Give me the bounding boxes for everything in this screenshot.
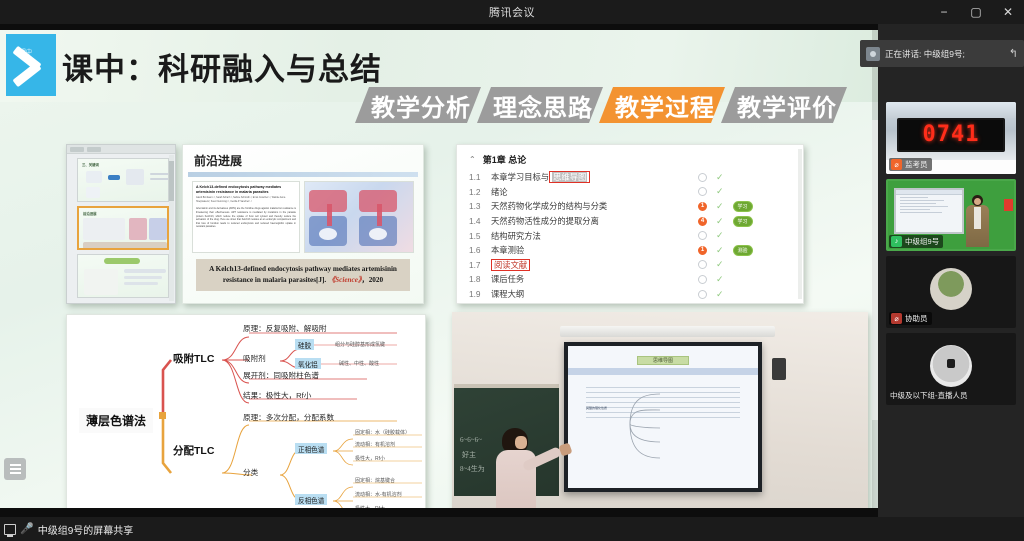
chapter-row-number: 1.8 xyxy=(469,274,491,284)
chapter-row-number: 1.1 xyxy=(469,172,491,182)
course-logo-icon: 课中 xyxy=(6,34,56,96)
chapter-empty-dot xyxy=(698,275,707,284)
bottom-status-bar: 🎤 中级组9号的屏幕共享 xyxy=(0,517,1024,541)
tab-3[interactable]: 教学评价 xyxy=(721,87,847,123)
chapter-check-icon: ✓ xyxy=(716,187,724,196)
chapter-scrollbar[interactable] xyxy=(798,149,802,299)
mindmap-root-node: 薄层色谱法 xyxy=(79,408,153,433)
clock-digits: 0741 xyxy=(923,124,980,146)
participant-label-invigilator: ⌀ 监考员 xyxy=(889,158,932,171)
citation-year: ，2020 xyxy=(362,276,384,284)
mm-note-alumina: 碱性、中性、酸性 xyxy=(339,360,379,367)
paper-screenshot: A Kelch13-defined endocytosis pathway me… xyxy=(192,181,300,253)
ppt-thumbnail-panel[interactable]: 三、关键词 前沿进展 xyxy=(66,144,176,304)
chapter-row-title: 本章测验 xyxy=(491,244,698,256)
tab-label: 教学评价 xyxy=(737,88,837,123)
chapter-row-number: 1.4 xyxy=(469,216,491,226)
participant-name-broadcaster: 中级及以下组-直播人员 xyxy=(890,390,968,401)
paper-citation: A Kelch13-defined endocytosis pathway me… xyxy=(196,259,410,291)
mm-ads-node-3: 结果：极性大，Rf小 xyxy=(243,390,311,401)
participant-name-invigilator: 监考员 xyxy=(905,159,928,170)
paper-figure xyxy=(304,181,414,253)
chapter-row-title: 课程大纲 xyxy=(491,288,698,300)
paper-heading: A Kelch13-defined endocytosis pathway me… xyxy=(196,185,296,195)
chapter-status-pill: 学习 xyxy=(733,201,753,212)
speaker-avatar-icon xyxy=(866,47,880,61)
ppt-toolbar xyxy=(67,145,175,154)
speaking-text: 正在讲话: 中级组9号; xyxy=(885,48,1004,60)
share-status-label: 中级组9号的屏幕共享 xyxy=(38,522,134,537)
ppt-thumb-2-title: 前沿进展 xyxy=(83,211,97,216)
presenter-slide-preview xyxy=(894,188,964,234)
chapter-check-icon: ✓ xyxy=(716,173,724,182)
screen-share-icon xyxy=(4,524,16,535)
chapter-row[interactable]: 1.2绪论✓ xyxy=(469,185,793,200)
chapter-check-icon: ✓ xyxy=(716,217,724,226)
chapter-row[interactable]: 1.7阅读文献✓ xyxy=(469,258,793,273)
mm-tag-reverse-phase: 反相色谱 xyxy=(295,494,327,505)
chevron-up-icon[interactable]: ⌃ xyxy=(469,155,476,164)
collapse-arrow-icon[interactable]: ↰ xyxy=(1009,47,1018,60)
mindmap-slide: 薄层色谱法 吸附TLC 分配TLC 原理：反复吸附、解吸附 吸附剂 硅胶 组分与… xyxy=(66,314,426,517)
chapter-row-indicators: ✓ xyxy=(698,231,793,240)
mindmap-branch-adsorption: 吸附TLC xyxy=(173,351,214,366)
logo-caption: 课中 xyxy=(20,47,32,56)
paper-abstract-filler: Artemisinin and its derivatives (ARTs) a… xyxy=(196,207,296,229)
lesson-title: 课中：科研融入与总结 xyxy=(62,44,382,89)
chapter-row-number: 1.2 xyxy=(469,187,491,197)
chapter-row-title: 结构研究方法 xyxy=(491,230,698,242)
chapter-row-title: 绪论 xyxy=(491,186,698,198)
presenter-accent-block xyxy=(1004,199,1013,211)
projection-mindmap-curves xyxy=(568,380,766,470)
mm-np-note-0: 固定相：水（硅胶载体） xyxy=(355,429,410,436)
tab-1[interactable]: 理念思路 xyxy=(477,87,603,123)
chapter-status-pill: 学习 xyxy=(733,216,753,227)
participant-label-assistant: ⌀ 协助员 xyxy=(889,312,932,325)
chapter-empty-dot xyxy=(698,290,707,299)
menu-hamburger-icon[interactable] xyxy=(4,458,26,480)
projection-screen-title: 思维导图 xyxy=(637,356,689,365)
chapter-row-indicators: 4✓学习 xyxy=(698,216,793,227)
lesson-banner: 课中 课中：科研融入与总结 教学分析理念思路教学过程教学评价 xyxy=(0,30,878,102)
chapter-row-highlight: 阅读文献 xyxy=(491,259,530,271)
chapter-row[interactable]: 1.1本章学习目标与思维导图✓ xyxy=(469,170,793,185)
citation-journal: 《Science》 xyxy=(328,276,362,284)
ppt-panel-scrollbar[interactable] xyxy=(169,155,174,301)
participant-video-list[interactable]: 0741 ⌀ 监考员 ♪ xyxy=(886,102,1016,405)
tab-0[interactable]: 教学分析 xyxy=(355,87,481,123)
ppt-thumbnail-list[interactable]: 三、关键词 前沿进展 xyxy=(67,154,175,302)
chapter-row-indicators: 1✓测验 xyxy=(698,245,793,256)
chapter-count-badge: 1 xyxy=(698,202,707,211)
chapter-row-indicators: ✓ xyxy=(698,173,793,182)
tab-label: 教学过程 xyxy=(615,88,715,123)
participant-card-broadcaster[interactable]: 中级及以下组-直播人员 xyxy=(886,333,1016,405)
mm-par-node-1: 分类 xyxy=(243,467,258,478)
chapter-row-list[interactable]: 1.1本章学习目标与思维导图✓1.2绪论✓1.3天然药物化学成分的结构与分类1✓… xyxy=(469,170,793,301)
chapter-check-icon: ✓ xyxy=(716,202,724,211)
chapter-row-title: 天然药物活性成分的提取分离 xyxy=(491,215,698,227)
participant-card-assistant[interactable]: ⌀ 协助员 xyxy=(886,256,1016,328)
mm-ads-node-0: 原理：反复吸附、解吸附 xyxy=(243,323,327,334)
participant-name-presenter: 中级组9号 xyxy=(905,236,939,247)
mm-rp-note-0: 固定相：烷基键合 xyxy=(355,477,395,484)
chapter-row-indicators: ✓ xyxy=(698,275,793,284)
chapter-row-title: 本章学习目标与思维导图 xyxy=(491,171,698,183)
ppt-thumb-3[interactable] xyxy=(77,254,169,298)
close-icon[interactable]: ✕ xyxy=(992,0,1024,24)
participant-card-presenter[interactable]: ♪ 中级组9号 xyxy=(886,179,1016,251)
paper-authors: Jakob Birnbaum¹·², Sarah Scharf¹·², Sabi… xyxy=(196,197,296,204)
participant-label-presenter: ♪ 中级组9号 xyxy=(889,235,943,248)
ppt-thumb-1[interactable]: 三、关键词 xyxy=(77,158,169,202)
chapter-row-title: 阅读文献 xyxy=(491,259,698,271)
chapter-row[interactable]: 1.4天然药物活性成分的提取分离4✓学习 xyxy=(469,214,793,229)
frontier-progress-slide: 前沿进展 A Kelch13-defined endocytosis pathw… xyxy=(182,144,424,304)
projection-screen: 思维导图 其醌的理化性质 xyxy=(564,342,762,492)
chapter-row-number: 1.3 xyxy=(469,201,491,211)
chapter-check-icon: ✓ xyxy=(716,246,724,255)
window-title-bar: 腾讯会议 − ▢ ✕ xyxy=(0,0,1024,24)
chapter-check-icon: ✓ xyxy=(716,275,724,284)
chapter-row-title: 天然药物化学成分的结构与分类 xyxy=(491,200,698,212)
course-chapter-panel[interactable]: ⌃ 第1章 总论 1.1本章学习目标与思维导图✓1.2绪论✓1.3天然药物化学成… xyxy=(456,144,804,304)
chapter-check-icon: ✓ xyxy=(716,260,724,269)
participant-rail: 正在讲话: 中级组9号; ↰ 0741 ⌀ 监考员 xyxy=(878,24,1024,517)
chapter-header[interactable]: ⌃ 第1章 总论 xyxy=(469,153,793,166)
classroom-photo: 6~6~6~ 好主 8~4生为 思维导图 其醌的理化性质 xyxy=(452,312,868,517)
chapter-row-number: 1.7 xyxy=(469,260,491,270)
chapter-check-icon: ✓ xyxy=(716,231,724,240)
chapter-row[interactable]: 1.6本章测验1✓测验 xyxy=(469,243,793,258)
shared-slide-canvas: 课中 课中：科研融入与总结 教学分析理念思路教学过程教学评价 三、关键词 xyxy=(0,24,878,517)
chapter-row[interactable]: 1.3天然药物化学成分的结构与分类1✓学习 xyxy=(469,199,793,214)
participant-card-invigilator[interactable]: 0741 ⌀ 监考员 xyxy=(886,102,1016,174)
mm-ads-node-2: 展开剂：同吸附柱色谱 xyxy=(243,370,319,381)
projector-roller xyxy=(560,326,775,337)
mm-tag-normal-phase: 正相色谱 xyxy=(295,443,327,454)
chapter-status-pill: 测验 xyxy=(733,245,753,256)
chapter-row[interactable]: 1.8课后任务✓ xyxy=(469,272,793,287)
mm-tag-alumina: 氧化铝 xyxy=(295,358,321,369)
window-title: 腾讯会议 xyxy=(489,4,535,20)
mic-active-icon: ♪ xyxy=(891,236,902,247)
mm-tag-silica: 硅胶 xyxy=(295,339,314,350)
chapter-empty-dot xyxy=(698,173,707,182)
chapter-row-number: 1.5 xyxy=(469,231,491,241)
wall-speaker-icon xyxy=(772,358,786,380)
chapter-row-title: 课后任务 xyxy=(491,273,698,285)
minimize-icon[interactable]: − xyxy=(928,0,960,24)
chapter-count-badge: 1 xyxy=(698,246,707,255)
teacher-figure xyxy=(496,428,538,517)
tab-2[interactable]: 教学过程 xyxy=(599,87,725,123)
chapter-row-indicators: 1✓学习 xyxy=(698,201,793,212)
mic-muted-icon: ⌀ xyxy=(891,313,902,324)
chapter-row-indicators: ✓ xyxy=(698,187,793,196)
chapter-empty-dot xyxy=(698,260,707,269)
chapter-row[interactable]: 1.9课程大纲✓ xyxy=(469,287,793,302)
ppt-thumb-1-title: 三、关键词 xyxy=(82,162,99,167)
maximize-icon[interactable]: ▢ xyxy=(960,0,992,24)
tencent-meeting-window: 腾讯会议 − ▢ ✕ 课中 课中：科研融入与总结 教学分析理念思路教学过程教学评… xyxy=(0,0,1024,541)
mm-note-silica: 组分与硅醇基形成氢键 xyxy=(335,341,385,348)
lesson-tabs[interactable]: 教学分析理念思路教学过程教学评价 xyxy=(355,86,843,124)
mm-ads-node-1: 吸附剂 xyxy=(243,353,266,364)
microphone-icon: 🎤 xyxy=(20,524,34,535)
chapter-count-badge: 4 xyxy=(698,217,707,226)
chapter-row-indicators: ✓ xyxy=(698,260,793,269)
chapter-row-highlight: 思维导图 xyxy=(549,171,590,183)
chapter-header-label: 第1章 总论 xyxy=(483,153,527,166)
mm-np-note-1: 流动相：有机溶剂 xyxy=(355,441,395,448)
chapter-empty-dot xyxy=(698,187,707,196)
ppt-thumb-2[interactable]: 前沿进展 xyxy=(77,206,169,250)
frontier-slide-title: 前沿进展 xyxy=(188,150,418,172)
shared-screen-stage[interactable]: 课中 课中：科研融入与总结 教学分析理念思路教学过程教学评价 三、关键词 xyxy=(0,24,878,517)
tab-label: 理念思路 xyxy=(493,88,593,123)
avatar xyxy=(930,268,972,310)
avatar xyxy=(930,345,972,387)
chapter-row-selected-text: 思维导图 xyxy=(552,172,587,182)
mic-muted-icon: ⌀ xyxy=(891,159,902,170)
participant-name-assistant: 协助员 xyxy=(905,313,928,324)
frontier-slide-divider xyxy=(188,172,418,177)
speaking-indicator[interactable]: 正在讲话: 中级组9号; ↰ xyxy=(860,40,1024,67)
chapter-row-indicators: ✓ xyxy=(698,290,793,299)
window-controls: − ▢ ✕ xyxy=(928,0,1024,24)
chapter-row-number: 1.9 xyxy=(469,289,491,299)
tab-label: 教学分析 xyxy=(371,88,471,123)
chapter-empty-dot xyxy=(698,231,707,240)
stage-letterbox-bottom xyxy=(0,508,878,517)
mm-rp-note-1: 流动相：水-有机溶剂 xyxy=(355,491,402,498)
mindmap-branch-partition: 分配TLC xyxy=(173,443,214,458)
chapter-row-number: 1.6 xyxy=(469,245,491,255)
chapter-check-icon: ✓ xyxy=(716,290,724,299)
chapter-row[interactable]: 1.5结构研究方法✓ xyxy=(469,228,793,243)
digital-clock: 0741 xyxy=(897,118,1005,152)
mm-np-note-2: 极性大，Rf小 xyxy=(355,455,385,462)
mm-par-node-0: 原理：多次分配，分配系数 xyxy=(243,412,334,423)
